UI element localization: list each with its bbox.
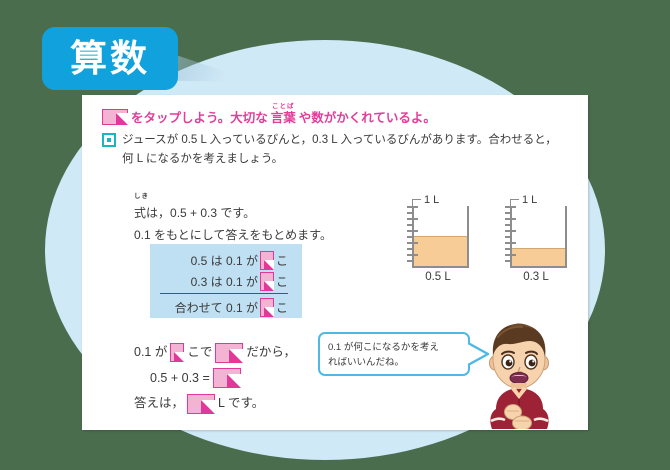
ruby-base-kotoba: 言葉 xyxy=(271,111,296,125)
conclusion-line-2: 0.5 + 0.3 = xyxy=(134,366,296,392)
conclusion-text-c: だから， xyxy=(246,340,296,366)
computation-row-prefix: 0.3 は 0.1 が xyxy=(191,273,258,290)
beaker-caption: 0.3 L xyxy=(505,271,567,283)
subject-label: 算数 xyxy=(70,40,150,77)
computation-row-suffix: こ xyxy=(276,299,288,316)
tap-tag-icon[interactable] xyxy=(213,368,241,388)
subject-chip: 算数 xyxy=(42,27,178,90)
tap-tag-icon[interactable] xyxy=(215,343,243,363)
beaker-diagram-group: 1 L 0.5 L xyxy=(407,193,567,283)
worksheet-page: をタップしよう。大切な ことば 言葉 や数がかくれているよ。 ジュースが 0.5… xyxy=(82,95,588,430)
ruby-text-kotoba: ことば xyxy=(271,104,296,111)
beaker-unit: 1 L 0.3 L xyxy=(505,193,567,283)
beaker-capacity-label: 1 L xyxy=(522,194,537,206)
ruby-base-shiki: 式 xyxy=(134,206,146,220)
conclusion-line-3: 答えは， L です。 xyxy=(134,391,296,417)
computation-box: 0.5 は 0.1 が こ 0.3 は 0.1 が こ 合わせて 0.1 が こ xyxy=(150,244,302,318)
beaker-capacity-label: 1 L xyxy=(424,194,439,206)
speech-bubble: 0.1 が何こになるかを考え ればいいんだね。 xyxy=(318,332,470,376)
beaker-unit: 1 L 0.5 L xyxy=(407,193,469,283)
ruby-group-shiki: しき 式 xyxy=(134,195,146,224)
conclusion-answer-label: 答えは， xyxy=(134,391,184,417)
expression-statement-rest: は，0.5 + 0.3 です。 xyxy=(146,206,255,220)
conclusion-line-1: 0.1 が こで だから， xyxy=(134,340,296,366)
beaker-caption: 0.5 L xyxy=(407,271,469,283)
conclusion-text-a: 0.1 が xyxy=(134,340,167,366)
tap-tag-icon[interactable] xyxy=(260,298,274,317)
conclusion-text-b: こで xyxy=(187,340,212,366)
boy-student-illustration xyxy=(478,317,570,429)
tap-instruction-line: をタップしよう。大切な ことば 言葉 や数がかくれているよ。 xyxy=(102,105,572,126)
computation-row-prefix: 0.5 は 0.1 が xyxy=(191,252,258,269)
computation-row: 0.3 は 0.1 が こ xyxy=(160,271,288,292)
computation-row: 0.5 は 0.1 が こ xyxy=(160,250,288,271)
problem-statement-line: ジュースが 0.5 L 入っているびんと，0.3 L 入っているびんがあります。… xyxy=(102,131,572,170)
ruby-text-shiki: しき xyxy=(134,194,146,201)
tap-tag-icon[interactable] xyxy=(260,251,274,270)
computation-row-total: 合わせて 0.1 が こ xyxy=(160,293,288,318)
computation-row-prefix: 合わせて 0.1 が xyxy=(175,299,258,316)
working-text-block: しき 式 は，0.5 + 0.3 です。 0.1 をもとにして答えをもとめます。 xyxy=(134,195,384,246)
beaker-liquid xyxy=(512,248,565,266)
computation-row-suffix: こ xyxy=(276,252,288,269)
square-outline-icon[interactable] xyxy=(102,133,116,147)
beaker-container: 1 L xyxy=(505,193,567,268)
tap-tag-icon[interactable] xyxy=(102,109,128,125)
beaker-walls xyxy=(412,206,469,268)
speech-bubble-line-1: 0.1 が何こになるかを考え xyxy=(328,340,460,355)
computation-row-suffix: こ xyxy=(276,273,288,290)
beaker-scale xyxy=(407,206,419,268)
beaker-scale xyxy=(505,206,517,268)
instruction-text-after: や数がかくれているよ。 xyxy=(299,112,436,126)
beaker-liquid xyxy=(414,236,467,266)
beaker-walls xyxy=(510,206,567,268)
tap-tag-icon[interactable] xyxy=(260,272,274,291)
ruby-group-kotoba: ことば 言葉 xyxy=(271,105,296,126)
header-block: をタップしよう。大切な ことば 言葉 や数がかくれているよ。 ジュースが 0.5… xyxy=(102,105,572,170)
expression-statement: しき 式 は，0.5 + 0.3 です。 xyxy=(134,195,384,224)
problem-statement-text: ジュースが 0.5 L 入っているびんと，0.3 L 入っているびんがあります。… xyxy=(122,131,562,170)
speech-bubble-line-2: ればいいんだね。 xyxy=(328,355,460,370)
tap-tag-icon[interactable] xyxy=(170,343,184,362)
instruction-text-before: をタップしよう。大切な xyxy=(131,112,268,126)
tap-tag-icon[interactable] xyxy=(187,394,215,414)
conclusion-answer-unit: L です。 xyxy=(218,391,264,417)
conclusion-block: 0.1 が こで だから， 0.5 + 0.3 = 答えは， L です。 xyxy=(134,340,296,417)
beaker-container: 1 L xyxy=(407,193,469,268)
conclusion-equation: 0.5 + 0.3 = xyxy=(150,366,210,392)
